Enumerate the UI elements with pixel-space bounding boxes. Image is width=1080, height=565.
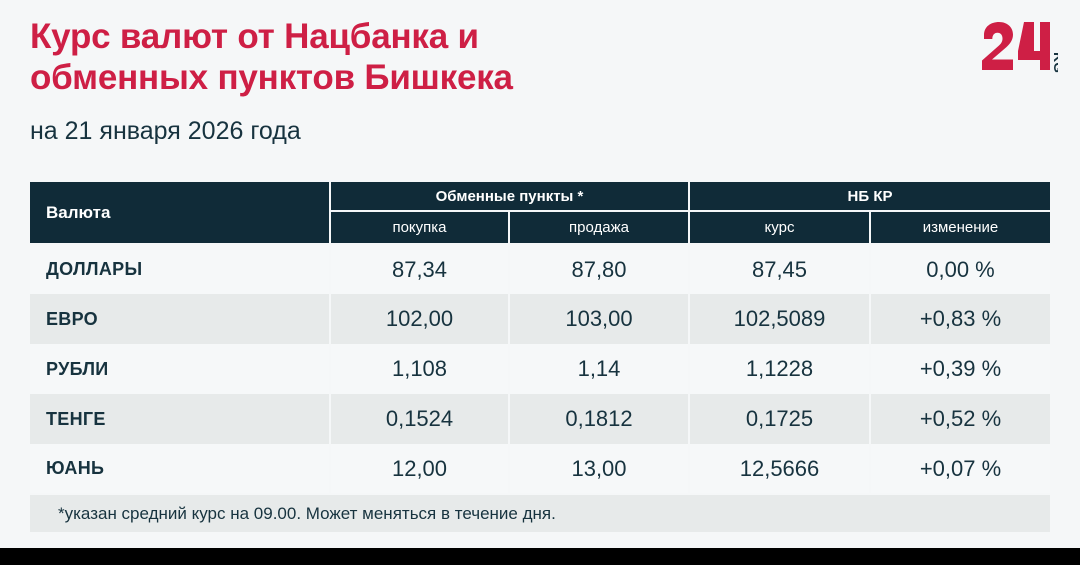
table-head-group-row: Валюта Обменные пункты * НБ КР	[30, 182, 1050, 211]
cell-buy: 87,34	[330, 244, 509, 294]
cell-currency: ЕВРО	[30, 294, 330, 344]
cell-change: 0,00 %	[870, 244, 1050, 294]
cell-buy: 1,108	[330, 344, 509, 394]
cell-sell: 13,00	[509, 444, 689, 494]
cell-sell: 103,00	[509, 294, 689, 344]
infographic-page: Курс валют от Нацбанка и обменных пункто…	[0, 0, 1080, 565]
col-group-exchange-points: Обменные пункты *	[330, 182, 689, 211]
cell-rate: 87,45	[689, 244, 870, 294]
cell-buy: 102,00	[330, 294, 509, 344]
page-title: Курс валют от Нацбанка и обменных пункто…	[30, 16, 730, 99]
cell-currency: ДОЛЛАРЫ	[30, 244, 330, 294]
col-header-currency: Валюта	[30, 182, 330, 244]
table-row: РУБЛИ 1,108 1,14 1,1228 +0,39 %	[30, 344, 1050, 394]
cell-sell: 87,80	[509, 244, 689, 294]
page-title-line1: Курс валют от Нацбанка и	[30, 17, 479, 56]
table-footnote: *указан средний курс на 09.00. Может мен…	[30, 494, 1050, 532]
col-header-sell: продажа	[509, 211, 689, 244]
page-subtitle: на 21 января 2026 года	[30, 117, 730, 146]
col-header-rate: курс	[689, 211, 870, 244]
footnote-row: *указан средний курс на 09.00. Может мен…	[30, 494, 1050, 532]
page-header: Курс валют от Нацбанка и обменных пункто…	[30, 16, 730, 146]
cell-currency: ЮАНЬ	[30, 444, 330, 494]
cell-rate: 102,5089	[689, 294, 870, 344]
col-header-buy: покупка	[330, 211, 509, 244]
col-header-change: изменение	[870, 211, 1050, 244]
cell-currency: ТЕНГЕ	[30, 394, 330, 444]
cell-rate: 0,1725	[689, 394, 870, 444]
col-group-nbkr: НБ КР	[689, 182, 1050, 211]
table-row: ДОЛЛАРЫ 87,34 87,80 87,45 0,00 %	[30, 244, 1050, 294]
cell-currency: РУБЛИ	[30, 344, 330, 394]
table-row: ЮАНЬ 12,00 13,00 12,5666 +0,07 %	[30, 444, 1050, 494]
24-kg-logo: KG	[980, 22, 1058, 74]
table-row: ЕВРО 102,00 103,00 102,5089 +0,83 %	[30, 294, 1050, 344]
table-row: ТЕНГЕ 0,1524 0,1812 0,1725 +0,52 %	[30, 394, 1050, 444]
cell-rate: 1,1228	[689, 344, 870, 394]
logo-kg-text: KG	[1051, 52, 1058, 73]
table-foot: *указан средний курс на 09.00. Может мен…	[30, 494, 1050, 532]
cell-rate: 12,5666	[689, 444, 870, 494]
cell-sell: 1,14	[509, 344, 689, 394]
page-title-line2: обменных пунктов Бишкека	[30, 58, 513, 97]
cell-change: +0,83 %	[870, 294, 1050, 344]
cell-buy: 12,00	[330, 444, 509, 494]
currency-rates-table: Валюта Обменные пункты * НБ КР покупка п…	[30, 182, 1050, 532]
cell-change: +0,52 %	[870, 394, 1050, 444]
table-body: ДОЛЛАРЫ 87,34 87,80 87,45 0,00 % ЕВРО 10…	[30, 244, 1050, 494]
table-head: Валюта Обменные пункты * НБ КР покупка п…	[30, 182, 1050, 244]
cell-sell: 0,1812	[509, 394, 689, 444]
bottom-bar	[0, 548, 1080, 565]
cell-change: +0,39 %	[870, 344, 1050, 394]
cell-change: +0,07 %	[870, 444, 1050, 494]
cell-buy: 0,1524	[330, 394, 509, 444]
